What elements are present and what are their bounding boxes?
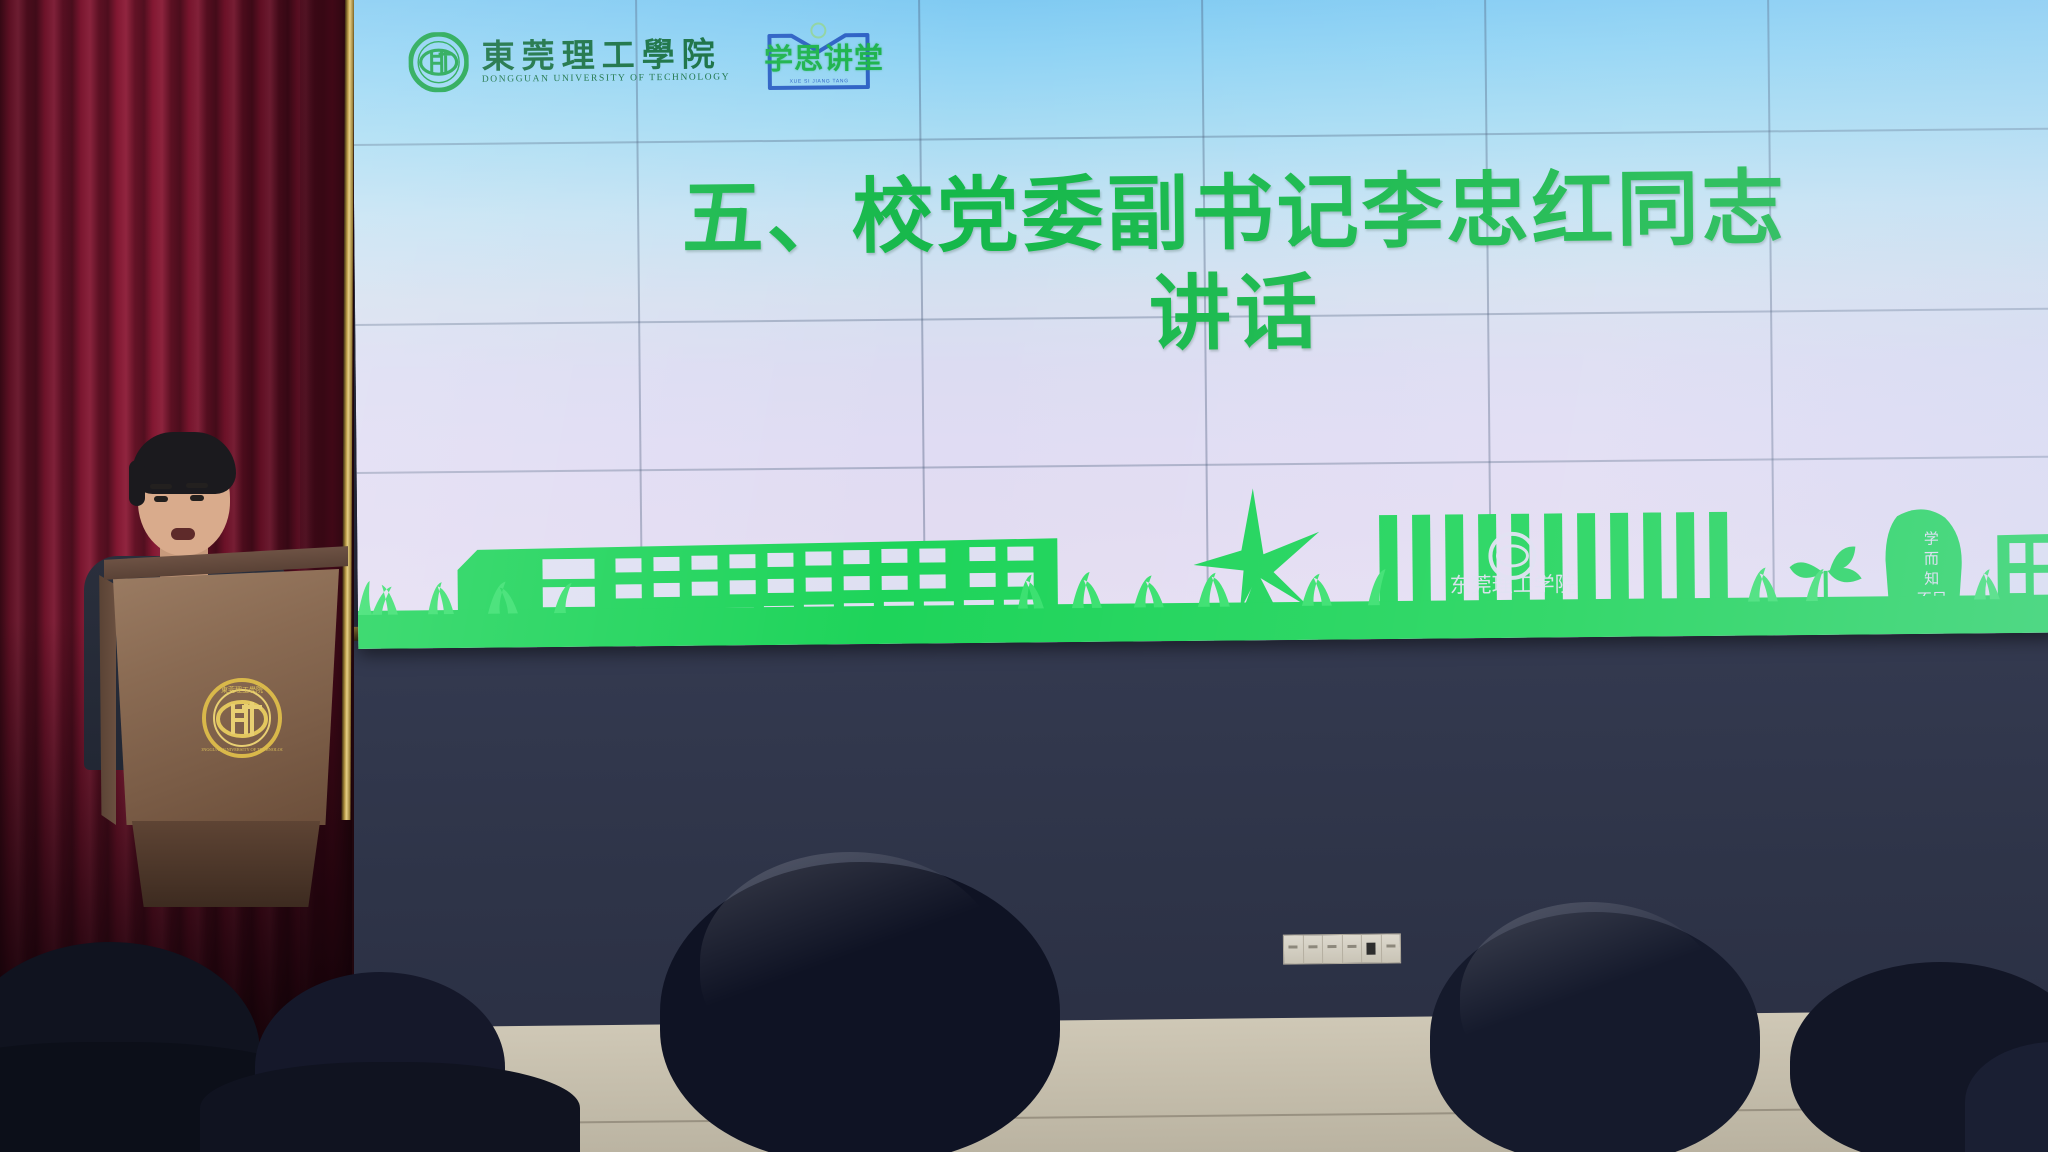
- presenter-hair: [132, 432, 236, 494]
- lectern-front: 東莞理工學院 DONGGUAN UNIVERSITY OF TECHNOLOGY: [113, 569, 339, 825]
- switch-cell[interactable]: [1342, 935, 1362, 963]
- lower-dark-wall: [340, 619, 2048, 1056]
- auditorium-scene: 東莞理工學院 DONGGUAN UNIVERSITY OF TECHNOLOGY…: [0, 0, 2048, 1152]
- switch-cell[interactable]: [1284, 935, 1304, 963]
- hair-highlight-4: [1460, 902, 1720, 1092]
- eyebrow-right: [186, 483, 208, 488]
- light-switch-panel[interactable]: [1283, 933, 1401, 964]
- university-emblem-gold: 東莞理工學院 DONGGUAN UNIVERSITY OF TECHNOLOGY: [201, 677, 283, 759]
- led-video-wall[interactable]: 東莞理工學院 DONGGUAN UNIVERSITY OF TECHNOLOGY…: [352, 0, 2048, 649]
- power-socket[interactable]: [1362, 935, 1382, 963]
- switch-cell[interactable]: [1381, 934, 1400, 962]
- lectern[interactable]: 東莞理工學院 DONGGUAN UNIVERSITY OF TECHNOLOGY: [104, 553, 348, 903]
- eyebrow-left: [150, 484, 172, 489]
- switch-cell[interactable]: [1323, 935, 1343, 963]
- hair-highlight-3: [700, 852, 1000, 1072]
- switch-cell[interactable]: [1303, 935, 1323, 963]
- presenter-mouth: [171, 528, 195, 540]
- eye-right: [190, 495, 204, 501]
- emblem-text-cn: 東莞理工學院: [221, 685, 263, 694]
- emblem-text-en: DONGGUAN UNIVERSITY OF TECHNOLOGY: [201, 747, 283, 752]
- audience-shoulders-2: [200, 1062, 580, 1152]
- screen-glare: [352, 0, 2048, 649]
- floor-seam: [331, 1106, 2048, 1126]
- eye-left: [154, 496, 168, 502]
- lectern-base: [128, 821, 324, 907]
